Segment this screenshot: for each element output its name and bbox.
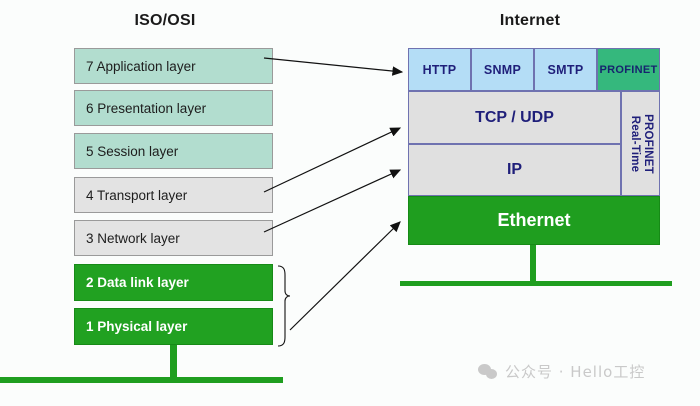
osi-layer-label: 1 Physical layer [86,319,187,334]
profinet-real-time-label: PROFINET Real-Time [628,114,654,174]
osi-layer-3-network: 3 Network layer [74,220,273,256]
osi-layer-1-physical: 1 Physical layer [74,308,273,345]
osi-layer-label: 3 Network layer [86,231,180,246]
bus-drop-right [530,245,536,284]
osi-layer-5-session: 5 Session layer [74,133,273,169]
ethernet-label: Ethernet [497,210,570,231]
protocol-box-profinet: PROFINET [597,48,660,91]
protocol-label: PROFINET [599,64,657,76]
protocol-label: HTTP [423,63,457,77]
arrow-transport-to-tcp-udp [264,128,400,192]
transport-box-tcp-udp: TCP / UDP [408,91,621,144]
osi-layer-2-data-link: 2 Data link layer [74,264,273,301]
protocol-box-http: HTTP [408,48,471,91]
arrow-application-to-protocols [264,58,402,72]
watermark: 公众号 · Hello工控 [478,361,645,382]
bus-line-right [400,281,672,286]
link-box-ethernet: Ethernet [408,196,660,245]
wechat-icon [478,364,498,380]
osi-layer-7-application: 7 Application layer [74,48,273,84]
bus-drop-left [170,345,177,380]
profinet-real-time-line1: PROFINET [641,114,654,174]
arrow-network-to-ip [264,170,400,232]
protocol-label: SMTP [548,63,584,77]
profinet-real-time-column: PROFINET Real-Time [621,91,660,196]
brace-datalink-physical [278,266,290,346]
bus-line-left [0,377,283,383]
transport-label: TCP / UDP [475,109,554,127]
protocol-box-smtp: SMTP [534,48,597,91]
osi-layer-label: 2 Data link layer [86,275,189,290]
osi-layer-6-presentation: 6 Presentation layer [74,90,273,126]
osi-layer-label: 7 Application layer [86,59,196,74]
osi-layer-4-transport: 4 Transport layer [74,177,273,213]
protocol-box-snmp: SNMP [471,48,534,91]
network-label: IP [507,161,522,179]
network-box-ip: IP [408,144,621,196]
osi-layer-label: 4 Transport layer [86,188,187,203]
arrow-datalink-physical-to-ethernet [290,222,400,330]
page-title-iso-osi: ISO/OSI [105,12,225,30]
profinet-real-time-line2: Real-Time [628,114,641,174]
page-title-internet: Internet [470,12,590,30]
osi-layer-label: 6 Presentation layer [86,101,206,116]
osi-layer-label: 5 Session layer [86,144,178,159]
diagram-canvas: ISO/OSI Internet 7 Application layer 6 P… [0,0,700,406]
protocol-label: SNMP [484,63,521,77]
watermark-text: 公众号 · Hello工控 [505,361,645,382]
